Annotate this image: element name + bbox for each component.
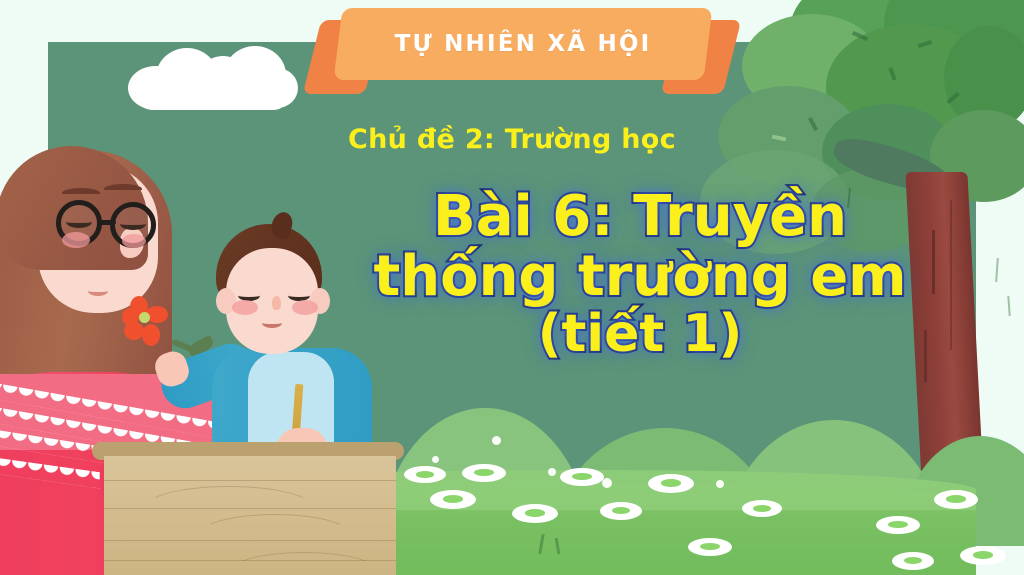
subject-subtitle: Chủ đề 2: Trường học <box>0 124 1024 155</box>
white-flower <box>430 490 476 509</box>
white-flower <box>934 490 978 509</box>
student-nose <box>272 296 281 310</box>
white-flower <box>876 516 920 534</box>
white-flower <box>960 546 1006 565</box>
white-flower <box>560 468 604 486</box>
student-cheek <box>292 300 318 315</box>
speck <box>602 478 612 488</box>
speck <box>548 468 556 476</box>
white-flower <box>648 474 694 493</box>
white-flower <box>892 552 934 570</box>
speck <box>432 456 439 463</box>
student-mouth <box>262 318 282 328</box>
speck <box>716 480 724 488</box>
white-flower <box>688 538 732 556</box>
white-flower <box>742 500 782 517</box>
student-cheek <box>232 300 258 315</box>
banner-ribbon: TỰ NHIÊN XÃ HỘI <box>312 8 732 94</box>
banner-title: TỰ NHIÊN XÃ HỘI <box>338 8 708 80</box>
white-flower <box>462 464 506 482</box>
desk-front-panel <box>104 456 396 575</box>
white-flower <box>600 502 642 520</box>
white-flower <box>512 504 558 523</box>
speck <box>492 436 501 445</box>
slide-canvas: TỰ NHIÊN XÃ HỘI Chủ đề 2: Trường học Bài… <box>0 0 1024 575</box>
